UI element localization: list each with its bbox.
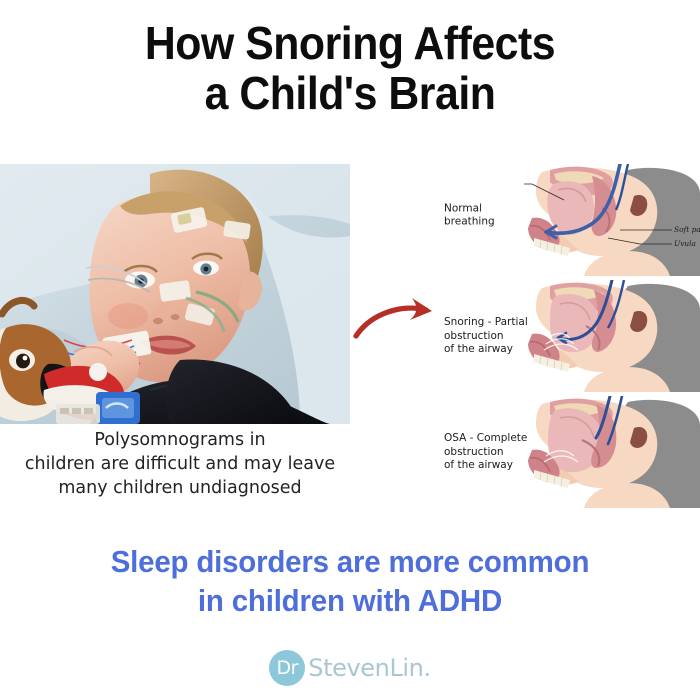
airway-illustration-snoring — [524, 280, 700, 392]
brand-logo[interactable]: Dr StevenLin. — [0, 650, 700, 686]
title-line-2: a Child's Brain — [25, 68, 676, 118]
child-polysomnogram-photo — [0, 164, 350, 424]
diagram-label-osa: OSA - Complete obstruction of the airway — [444, 432, 536, 473]
diagram-row-snoring: Snoring - Partial obstruction of the air… — [352, 280, 700, 392]
page-title: How Snoring Affects a Child's Brain — [0, 18, 700, 118]
diagram-label-normal-breathing: Normal breathing — [444, 202, 536, 229]
diagram-label-snoring: Snoring - Partial obstruction of the air… — [444, 316, 536, 357]
infographic-page: How Snoring Affects a Child's Brain — [0, 0, 700, 700]
diagram-row-normal-breathing: Normal breathing — [352, 164, 700, 276]
headline-line-1: Sleep disorders are more common — [18, 542, 683, 581]
logo-badge-dr: Dr — [269, 650, 305, 686]
caption-line-3: many children undiagnosed — [0, 476, 360, 500]
photo-caption: Polysomnograms in children are difficult… — [0, 428, 360, 500]
title-line-1: How Snoring Affects — [25, 18, 676, 68]
diagram-row-osa: OSA - Complete obstruction of the airway — [352, 396, 700, 508]
airway-illustration-normal: Tongue Soft palate Uvula — [524, 164, 700, 276]
adhd-headline: Sleep disorders are more common in child… — [0, 542, 700, 620]
annotation-soft-palate: Soft palate — [674, 225, 700, 234]
airway-diagram-column: Normal breathing — [352, 160, 700, 512]
logo-wordmark: StevenLin. — [308, 654, 430, 682]
headline-line-2: in children with ADHD — [18, 581, 683, 620]
caption-line-1: Polysomnograms in — [0, 428, 360, 452]
annotation-uvula: Uvula — [674, 239, 696, 248]
airway-illustration-osa — [524, 396, 700, 508]
caption-line-2: children are difficult and may leave — [0, 452, 360, 476]
